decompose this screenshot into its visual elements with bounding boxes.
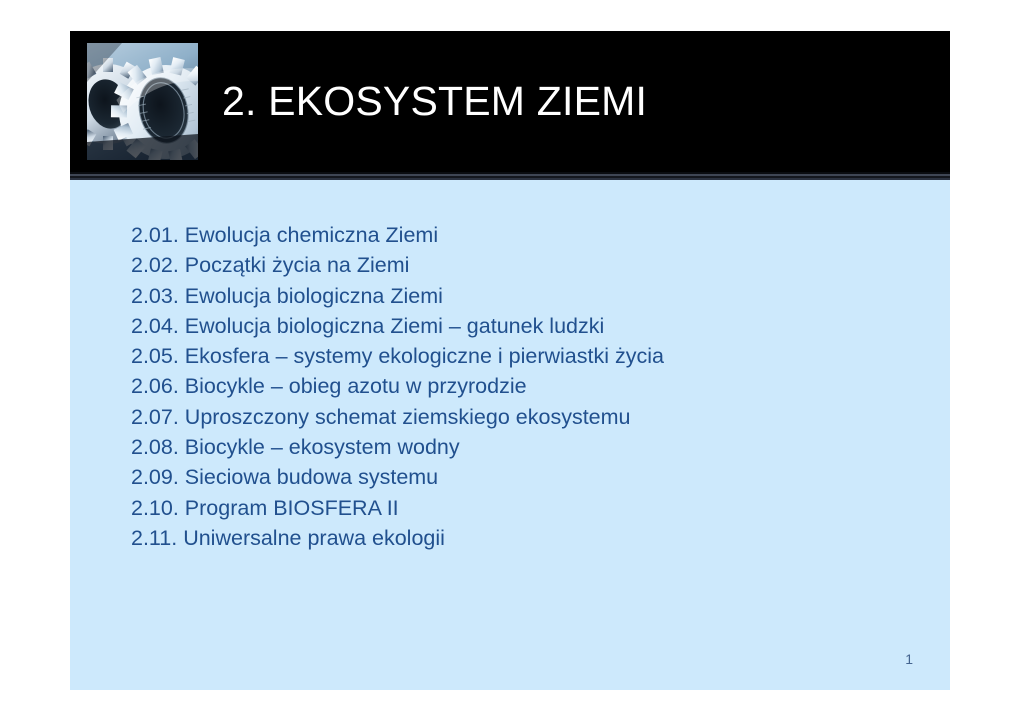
list-item[interactable]: 2.03. Ewolucja biologiczna Ziemi <box>131 281 664 311</box>
list-item[interactable]: 2.09. Sieciowa budowa systemu <box>131 462 664 492</box>
list-item[interactable]: 2.07. Uproszczony schemat ziemskiego eko… <box>131 402 664 432</box>
table-of-contents: 2.01. Ewolucja chemiczna Ziemi 2.02. Poc… <box>131 220 664 553</box>
list-item[interactable]: 2.08. Biocykle – ekosystem wodny <box>131 432 664 462</box>
header-divider <box>70 172 950 180</box>
gears-photo-icon <box>82 38 203 165</box>
page-number: 1 <box>905 652 913 666</box>
list-item[interactable]: 2.04. Ewolucja biologiczna Ziemi – gatun… <box>131 311 664 341</box>
list-item[interactable]: 2.05. Ekosfera – systemy ekologiczne i p… <box>131 341 664 371</box>
list-item[interactable]: 2.02. Początki życia na Ziemi <box>131 250 664 280</box>
list-item[interactable]: 2.11. Uniwersalne prawa ekologii <box>131 523 664 553</box>
list-item[interactable]: 2.01. Ewolucja chemiczna Ziemi <box>131 220 664 250</box>
list-item[interactable]: 2.10. Program BIOSFERA II <box>131 493 664 523</box>
slide-canvas: 2. EKOSYSTEM ZIEMI 2.01. Ewolucja chemic… <box>0 0 1024 724</box>
content-panel: 2.01. Ewolucja chemiczna Ziemi 2.02. Poc… <box>70 180 950 690</box>
slide-header: 2. EKOSYSTEM ZIEMI <box>70 31 950 172</box>
page-title: 2. EKOSYSTEM ZIEMI <box>222 81 647 122</box>
list-item[interactable]: 2.06. Biocykle – obieg azotu w przyrodzi… <box>131 371 664 401</box>
